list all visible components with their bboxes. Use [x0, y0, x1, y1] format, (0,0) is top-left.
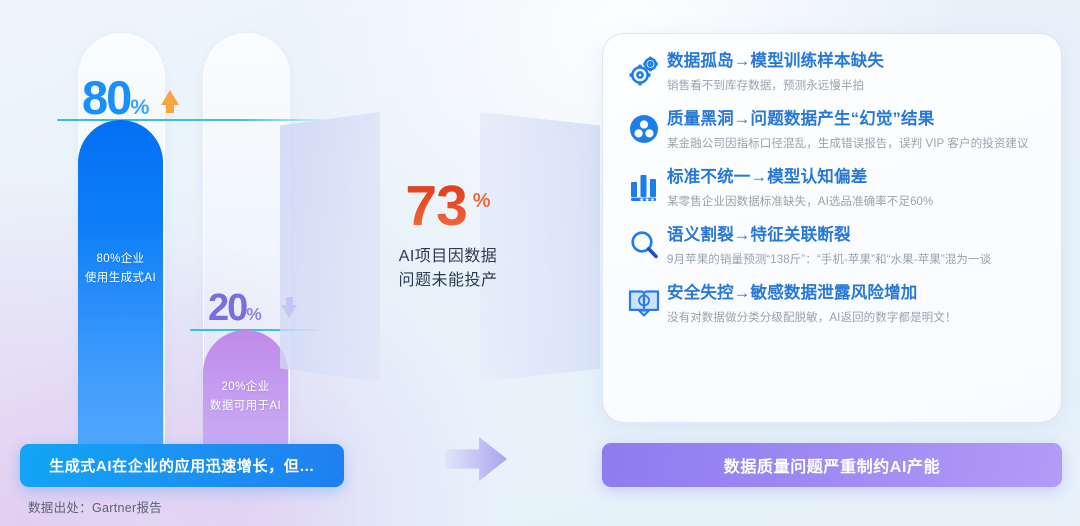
issue-title: 语义割裂→特征关联断裂	[667, 226, 851, 244]
value-20-number: 20	[208, 287, 246, 329]
molecule-circle-icon	[621, 106, 667, 152]
bar-chart-stars-icon: ★★★	[621, 164, 667, 210]
value-20-unit: %	[246, 304, 262, 324]
bar-80-label-line2: 使用生成式AI	[78, 269, 163, 288]
book-alert-icon	[621, 280, 667, 326]
stat-73-caption: AI项目因数据 问题未能投产	[368, 245, 528, 293]
issue-subtitle: 某零售企业因数据标准缺失，AI选品准确率不足60%	[667, 193, 933, 211]
issue-title: 安全失控→敏感数据泄露风险增加	[667, 284, 918, 302]
value-80-number: 80	[82, 71, 130, 124]
left-banner[interactable]: 生成式AI在企业的应用迅速增长，但…	[20, 444, 344, 487]
list-item[interactable]: ★★★ 标准不统一→模型认知偏差 某零售企业因数据标准缺失，AI选品准确率不足6…	[621, 164, 1041, 211]
funnel-section: 73% AI项目因数据 问题未能投产	[280, 0, 610, 470]
list-item[interactable]: 质量黑洞→问题数据产生“幻觉”结果 某金融公司因指标口径混乱，生成错误报告，误判…	[621, 106, 1041, 153]
list-item[interactable]: 数据孤岛→模型训练样本缺失 销售看不到库存数据，预测永远慢半拍	[621, 48, 1041, 95]
magnifier-icon	[621, 222, 667, 268]
infographic-canvas: 80%企业 使用生成式AI 20%企业 数据可用于AI 80% 20% 73% …	[0, 0, 1080, 526]
right-arrow-icon	[445, 437, 507, 481]
list-item[interactable]: 安全失控→敏感数据泄露风险增加 没有对数据做分类分级配脱敏，AI返回的数字都是明…	[621, 280, 1041, 327]
issue-subtitle: 9月苹果的销量预测“138斤”：“手机-苹果”和“水果-苹果”混为一谈	[667, 251, 991, 269]
bar-20-label-line2: 数据可用于AI	[203, 397, 288, 416]
issues-card: 数据孤岛→模型训练样本缺失 销售看不到库存数据，预测永远慢半拍 质量黑洞→问题数…	[602, 33, 1062, 423]
stat-73-caption-line1: AI项目因数据	[368, 245, 528, 269]
right-banner[interactable]: 数据质量问题严重制约AI产能	[602, 443, 1062, 487]
stat-73-unit: %	[473, 190, 491, 212]
bar-20-label: 20%企业 数据可用于AI	[203, 378, 288, 416]
bar-80	[78, 120, 163, 460]
bar-80-label-line1: 80%企业	[78, 250, 163, 269]
issue-subtitle: 销售看不到库存数据，预测永远慢半拍	[667, 77, 884, 95]
value-20: 20%	[208, 289, 262, 327]
source-note: 数据出处：Gartner报告	[28, 497, 162, 516]
svg-text:★★★: ★★★	[639, 196, 655, 203]
gears-icon	[621, 48, 667, 94]
value-80: 80%	[82, 74, 150, 121]
issue-subtitle: 某金融公司因指标口径混乱，生成错误报告，误判 VIP 客户的投资建议	[667, 135, 1029, 153]
issue-title: 数据孤岛→模型训练样本缺失	[667, 52, 884, 70]
stat-73-caption-line2: 问题未能投产	[368, 269, 528, 293]
stat-73: 73% AI项目因数据 问题未能投产	[368, 178, 528, 293]
bar-80-label: 80%企业 使用生成式AI	[78, 250, 163, 288]
funnel-wing-left	[280, 112, 380, 382]
bar-20-label-line1: 20%企业	[203, 378, 288, 397]
issue-subtitle: 没有对数据做分类分级配脱敏，AI返回的数字都是明文！	[667, 309, 956, 327]
issue-title: 标准不统一→模型认知偏差	[667, 168, 867, 186]
list-item[interactable]: 语义割裂→特征关联断裂 9月苹果的销量预测“138斤”：“手机-苹果”和“水果-…	[621, 222, 1041, 269]
stat-73-value: 73	[405, 174, 466, 238]
trend-up-icon	[161, 90, 179, 105]
issue-title: 质量黑洞→问题数据产生“幻觉”结果	[667, 110, 934, 128]
value-80-unit: %	[130, 94, 149, 119]
